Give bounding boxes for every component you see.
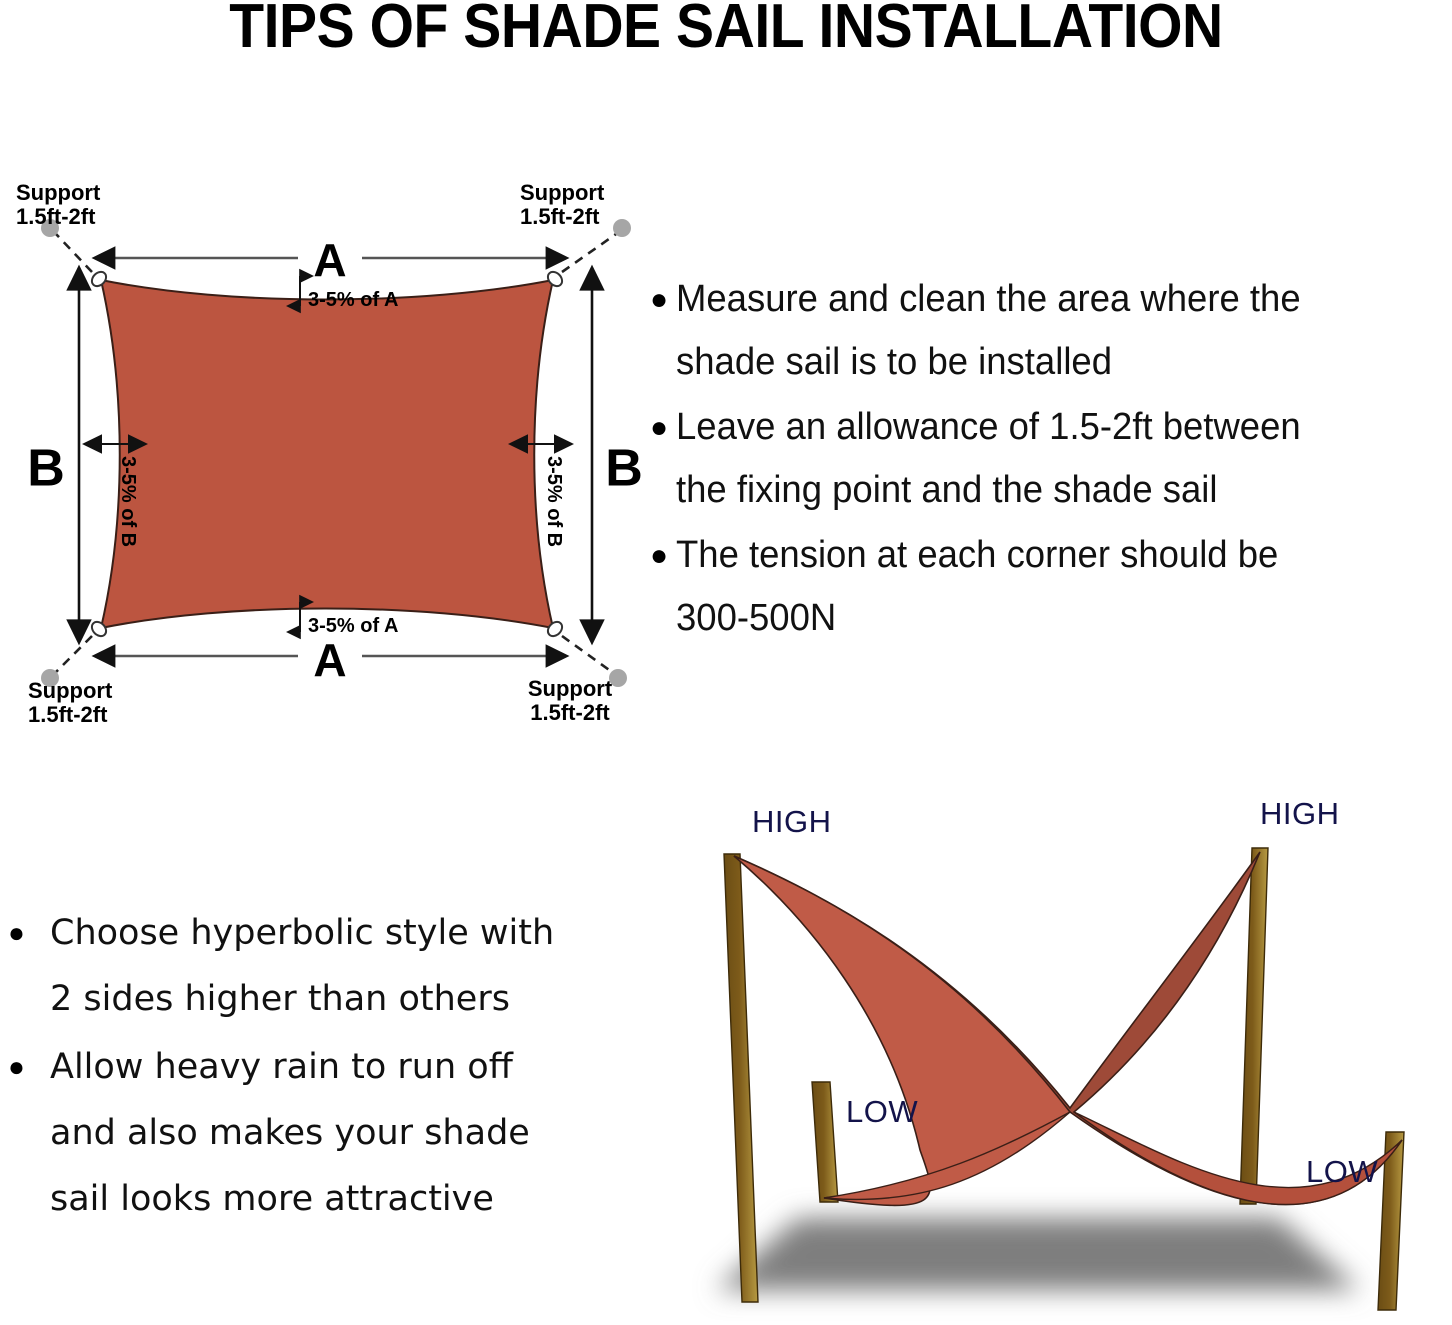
hyperbolic-shade-sail-illustration: HIGH HIGH LOW LOW: [660, 790, 1452, 1325]
shade-sail-shape: [101, 280, 553, 628]
post-front-left: [812, 1082, 838, 1202]
bullet-icon: ●: [650, 524, 676, 587]
bullet-icon: ●: [8, 900, 50, 966]
bullet-icon: ●: [650, 396, 676, 459]
ground-shadow: [716, 1218, 1360, 1290]
list-item-text: The tension at each corner should be 300…: [676, 524, 1429, 650]
bullet-icon: ●: [650, 268, 676, 331]
list-item: ● Leave an allowance of 1.5-2ft between …: [650, 396, 1452, 522]
post-label-high-left: HIGH: [752, 804, 832, 839]
post-label-high-right: HIGH: [1260, 796, 1340, 831]
support-label-top-right-line1: Support: [520, 180, 605, 205]
anchor-dot-top-right: [613, 219, 631, 237]
support-line-top-left: [56, 234, 92, 272]
support-label-top-left-line2: 1.5ft-2ft: [16, 204, 96, 229]
dimension-label-b-right: B: [605, 440, 643, 498]
support-line-bottom-left: [56, 636, 92, 672]
hyperbolic-style-tips-list: ● Choose hyperbolic style with 2 sides h…: [8, 900, 648, 1234]
curve-label-right: 3-5% of B: [543, 456, 565, 547]
support-label-bottom-right-line1: Support: [528, 676, 613, 701]
post-back-left: [724, 854, 758, 1302]
curve-label-top: 3-5% of A: [308, 289, 398, 311]
curve-label-left: 3-5% of B: [117, 456, 139, 547]
list-item-text: Leave an allowance of 1.5-2ft between th…: [676, 396, 1429, 522]
hypar-svg: HIGH HIGH LOW LOW: [660, 790, 1452, 1325]
post-label-low-right: LOW: [1306, 1154, 1378, 1189]
list-item: ● Allow heavy rain to run off and also m…: [8, 1034, 648, 1232]
support-label-top-left-line1: Support: [16, 180, 101, 205]
support-line-bottom-right: [562, 636, 612, 672]
dimension-label-a-bottom: A: [313, 634, 346, 686]
support-label-bottom-left-line1: Support: [28, 678, 113, 703]
list-item: ● Choose hyperbolic style with 2 sides h…: [8, 900, 648, 1032]
post-back-right: [1240, 848, 1268, 1204]
rect-diagram-svg: A A B B 3-5% of A 3-5% of A: [0, 160, 660, 730]
bullet-icon: ●: [8, 1034, 50, 1100]
post-label-low-left: LOW: [846, 1094, 918, 1129]
support-label-bottom-left-line2: 1.5ft-2ft: [28, 702, 108, 727]
list-item-text: Choose hyperbolic style with 2 sides hig…: [50, 900, 648, 1032]
support-label-top-right-line2: 1.5ft-2ft: [520, 204, 600, 229]
dimension-label-b-left: B: [27, 440, 65, 498]
curve-label-bottom: 3-5% of A: [308, 615, 398, 637]
list-item-text: Measure and clean the area where the sha…: [676, 268, 1429, 394]
dimension-label-a-top: A: [313, 234, 346, 286]
list-item-text: Allow heavy rain to run off and also mak…: [50, 1034, 648, 1232]
installation-tips-list: ● Measure and clean the area where the s…: [650, 268, 1452, 652]
support-line-top-right: [562, 234, 616, 272]
sail-panel-light: [734, 856, 1070, 1205]
page-title: TIPS OF SHADE SAIL INSTALLATION: [58, 0, 1394, 59]
list-item: ● Measure and clean the area where the s…: [650, 268, 1452, 394]
rectangle-shade-sail-dimension-diagram: A A B B 3-5% of A 3-5% of A: [0, 160, 660, 730]
list-item: ● The tension at each corner should be 3…: [650, 524, 1452, 650]
support-label-bottom-right-line2: 1.5ft-2ft: [530, 700, 610, 725]
